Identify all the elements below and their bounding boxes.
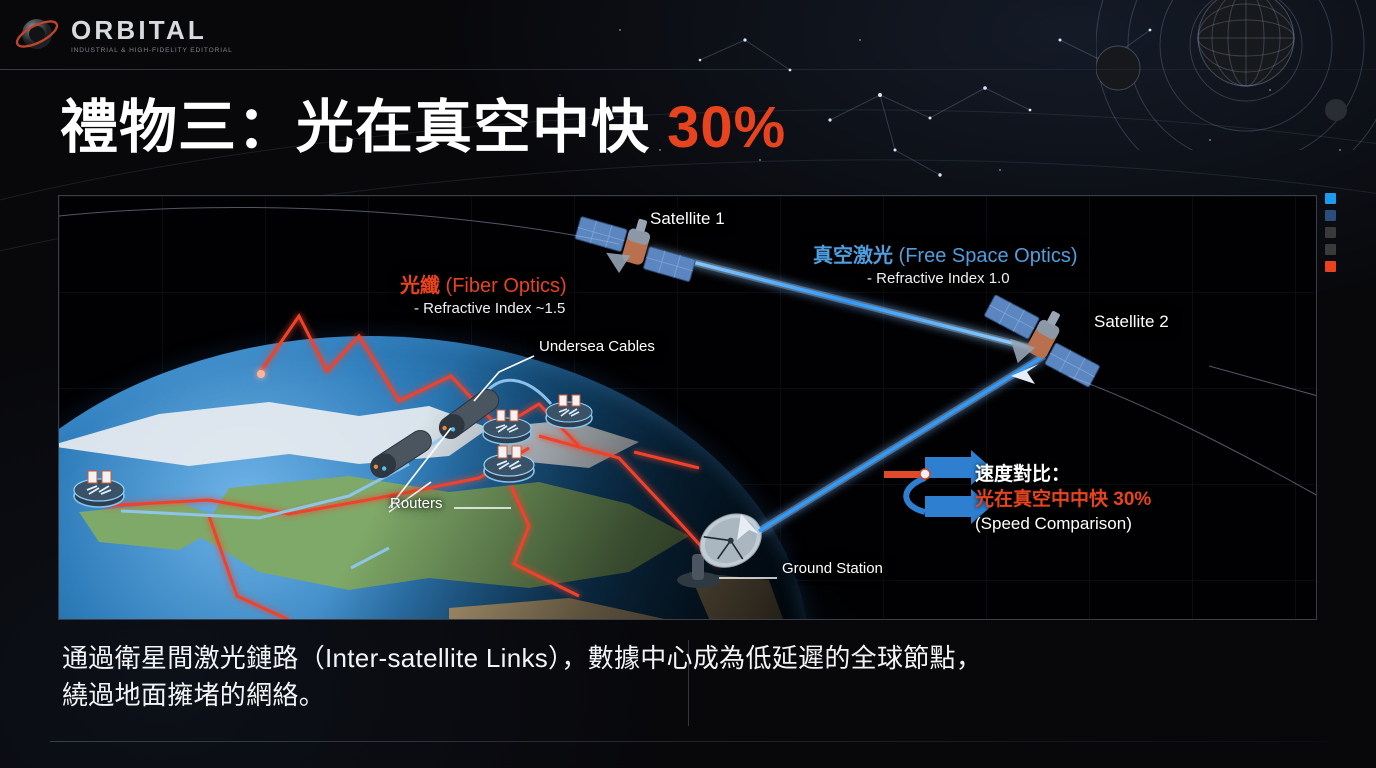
panel-space-background [59, 196, 1316, 619]
speed-comparison-block: 速度對比： 光在真空中中快 30% (Speed Comparison) [975, 462, 1151, 536]
satellite-2-label: Satellite 2 [1094, 312, 1169, 332]
router-nodes [74, 395, 592, 507]
orbit-trajectory-lines [59, 208, 1317, 496]
footer-divider [50, 741, 1326, 742]
slide-root: ORBITAL INDUSTRIAL & HIGH-FIDELITY EDITO… [0, 0, 1376, 768]
fiber-origin-node [257, 370, 265, 378]
brand-tagline: INDUSTRIAL & HIGH-FIDELITY EDITORIAL [71, 47, 233, 54]
fiber-title-zh: 光纖 [400, 275, 440, 297]
speed-sub: (Speed Comparison) [975, 513, 1151, 536]
fso-title-en: (Free Space Optics) [893, 245, 1078, 267]
leader-lines [389, 356, 777, 578]
undersea-cable-lines [121, 380, 551, 568]
globe-rim-glow [58, 336, 809, 620]
brand-name: ORBITAL [71, 17, 233, 43]
ground-station-label: Ground Station [782, 560, 883, 577]
swatch-bright-blue[interactable] [1325, 193, 1336, 204]
page-title-accent: 30% [667, 95, 786, 160]
panel-grid-overlay [59, 196, 1316, 619]
saturn-planet-icon [12, 9, 62, 59]
fiber-optics-legend: 光纖 (Fiber Optics) - Refractive Index ~1.… [400, 269, 567, 317]
satellite-1-label: Satellite 1 [650, 209, 725, 229]
fiber-title-en: (Fiber Optics) [440, 275, 567, 297]
swatch-red[interactable] [1325, 261, 1336, 272]
caption-line-1: 通過衛星間激光鏈路（Inter-satellite Links），數據中心成為低… [62, 640, 1242, 677]
eurasia-landmass [79, 476, 689, 590]
speed-main: 光在真空中中快 30% [975, 487, 1151, 512]
header-bar: ORBITAL INDUSTRIAL & HIGH-FIDELITY EDITO… [0, 0, 1376, 70]
routers-label: Routers [390, 495, 443, 512]
slide-caption: 通過衛星間激光鏈路（Inter-satellite Links），數據中心成為低… [62, 640, 1242, 714]
caption-line-2: 繞過地面擁堵的網絡。 [62, 677, 1242, 714]
header-divider [0, 69, 1376, 70]
network-overlay [59, 196, 1317, 620]
page-title-main: 禮物三：光在真空中快 [60, 95, 667, 160]
diagram-panel: Satellite 1 Satellite 2 Undersea Cables … [58, 195, 1317, 620]
swatch-dark-blue[interactable] [1325, 210, 1336, 221]
globe-terminator [58, 336, 809, 620]
fso-subtitle: - Refractive Index 1.0 [813, 270, 1078, 287]
earth-globe [58, 336, 809, 620]
free-space-optics-legend: 真空激光 (Free Space Optics) - Refractive In… [813, 239, 1078, 287]
swatch-gray-1[interactable] [1325, 227, 1336, 238]
arctic-landmass [58, 402, 639, 468]
swatch-gray-2[interactable] [1325, 244, 1336, 255]
speed-heading: 速度對比： [975, 462, 1151, 487]
globe-surface [58, 336, 809, 620]
undersea-cables-label: Undersea Cables [539, 338, 655, 355]
africa-sahara-landmass [449, 572, 789, 620]
undersea-cable-connectors [366, 385, 502, 482]
brand-logo[interactable]: ORBITAL INDUSTRIAL & HIGH-FIDELITY EDITO… [12, 9, 233, 59]
fso-title-zh: 真空激光 [813, 245, 893, 267]
fiber-route-lines [103, 316, 719, 620]
ground-station-dish [677, 503, 771, 588]
page-title: 禮物三：光在真空中快 30% [60, 96, 786, 161]
fiber-subtitle: - Refractive Index ~1.5 [400, 300, 567, 317]
color-swatch-strip [1325, 193, 1336, 272]
satellite-2-icon [972, 283, 1113, 398]
